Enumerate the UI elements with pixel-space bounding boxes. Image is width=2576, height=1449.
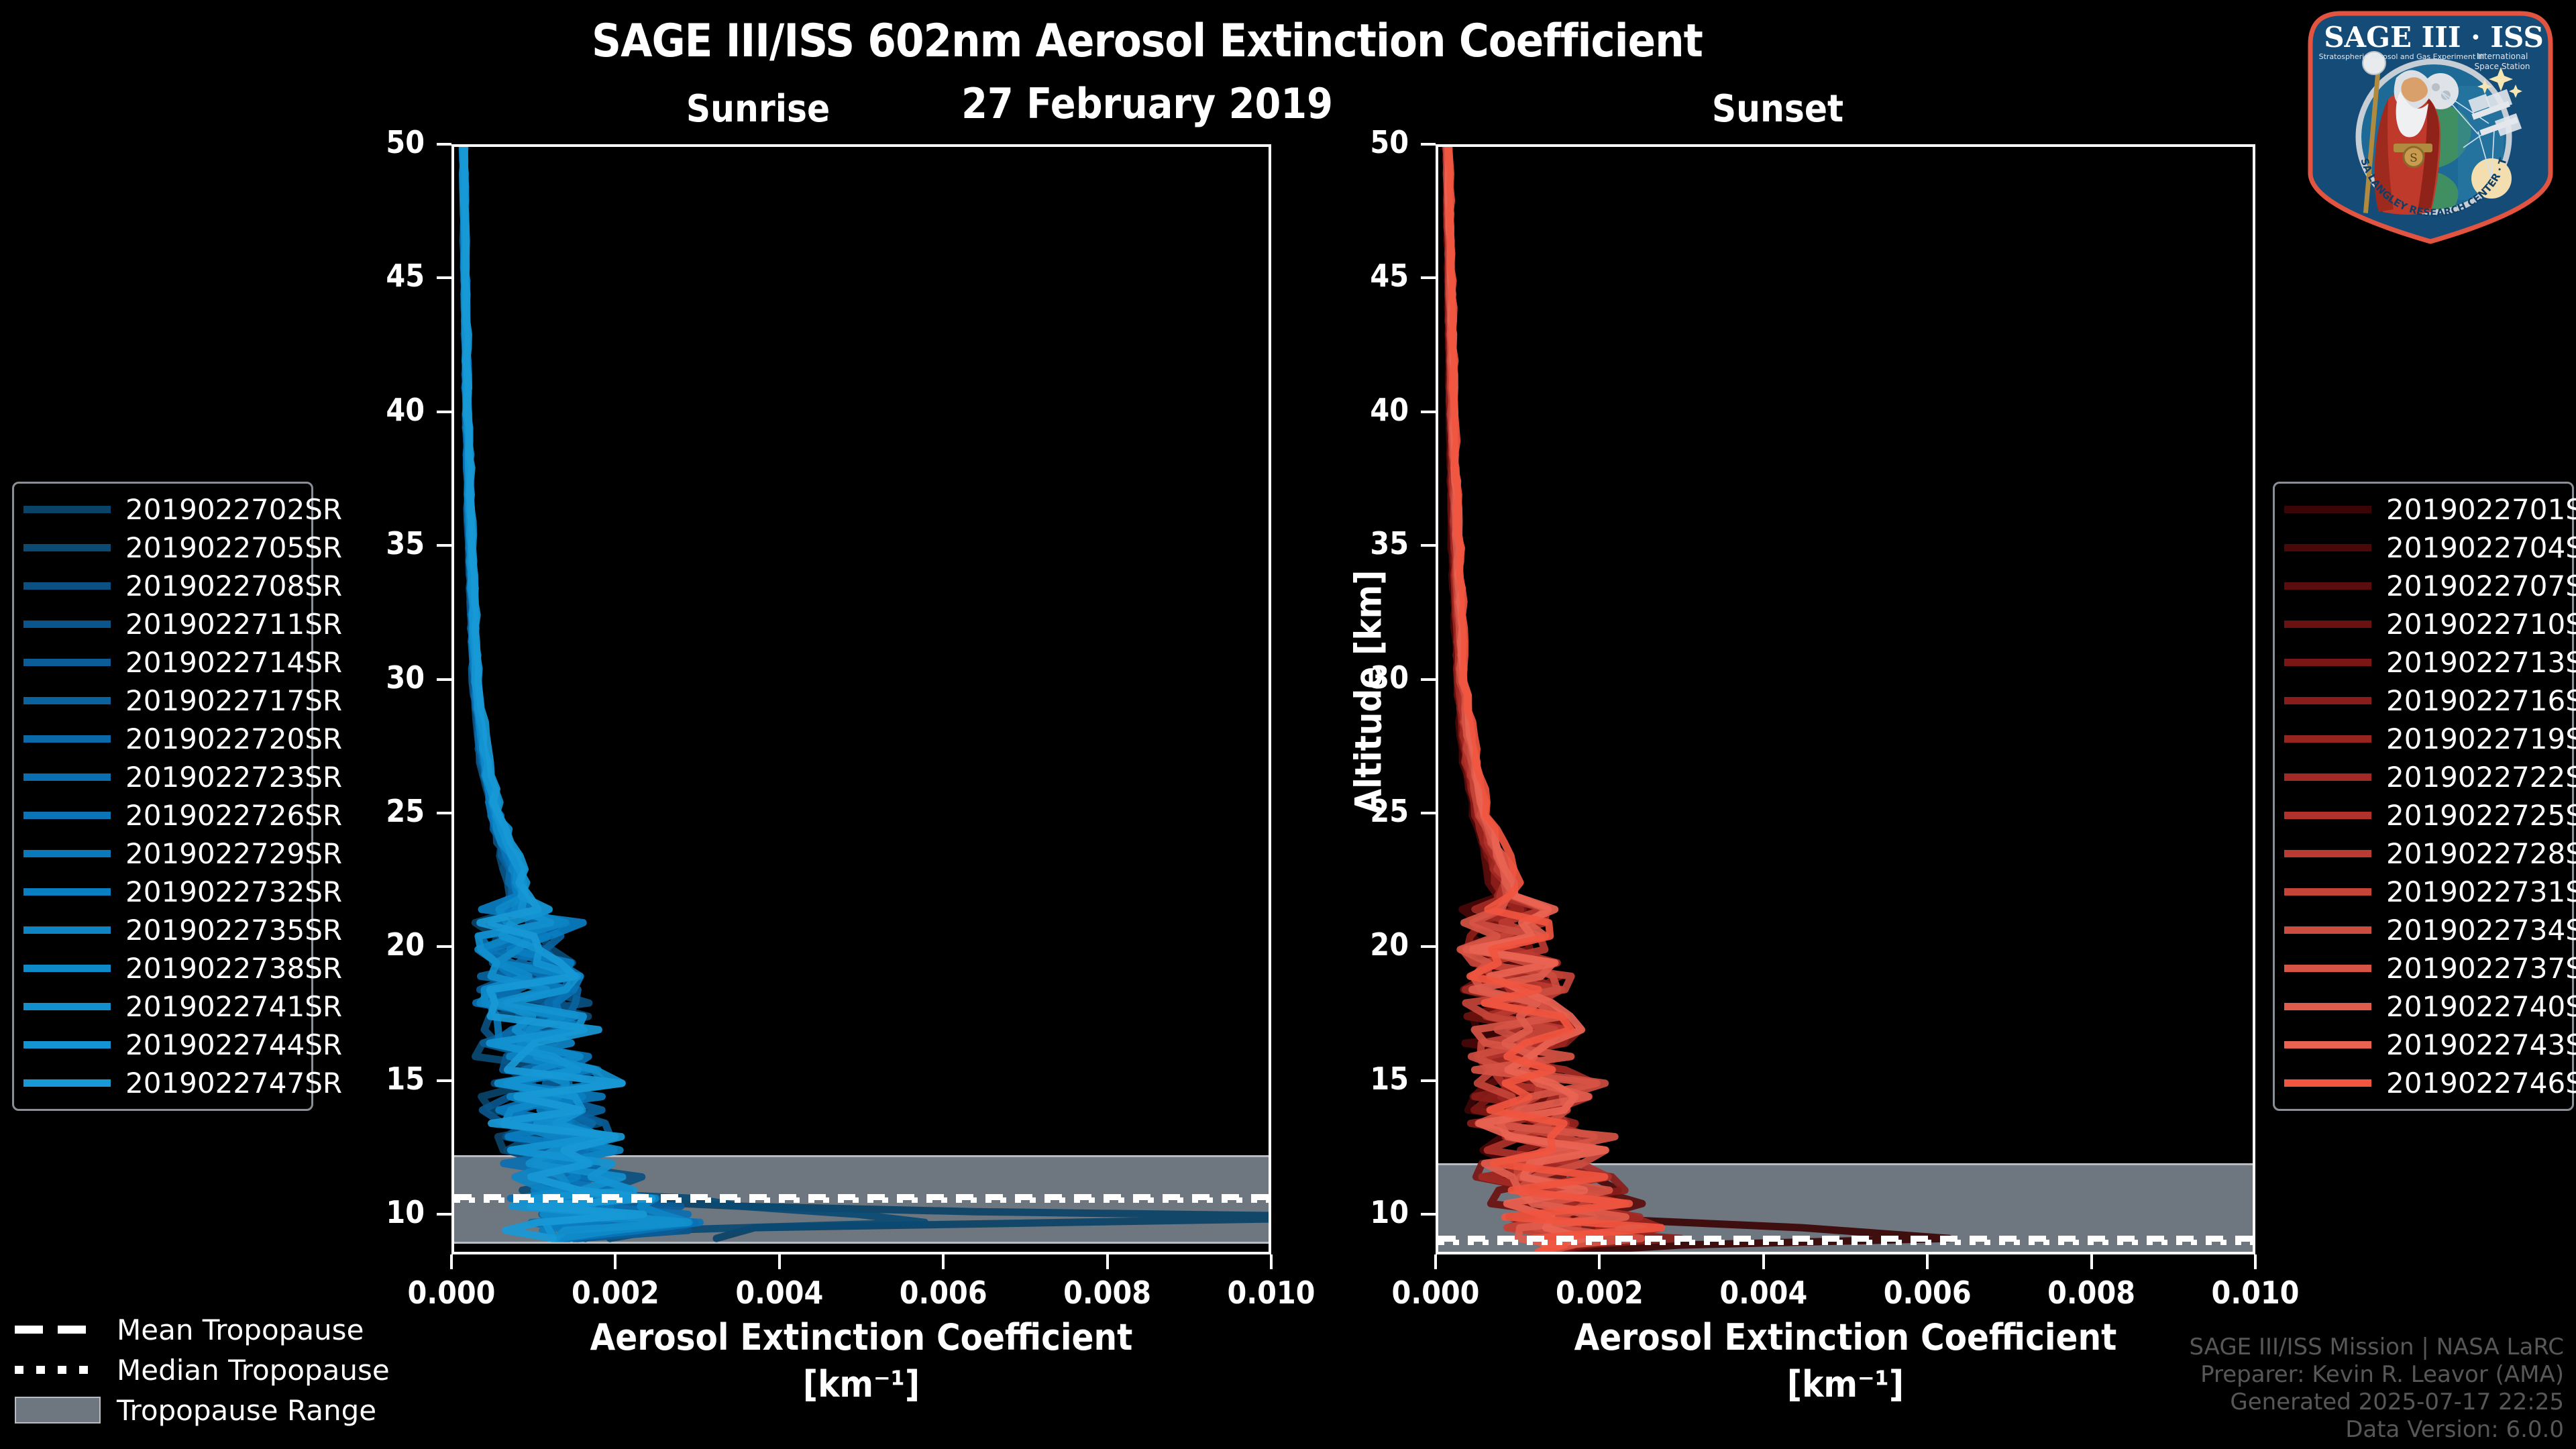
y-tick	[437, 143, 451, 146]
x-tick	[1106, 1254, 1109, 1269]
legend-item[interactable]: 2019022741SR	[23, 987, 302, 1026]
dotted-line-icon	[15, 1366, 101, 1374]
legend-color-swatch	[23, 1079, 111, 1087]
legend-item[interactable]: 2019022720SR	[23, 720, 302, 758]
legend-color-swatch	[2284, 1003, 2371, 1010]
legend-item[interactable]: 2019022732SR	[23, 873, 302, 911]
legend-item[interactable]: 2019022738SR	[23, 949, 302, 987]
legend-color-swatch	[2284, 812, 2371, 819]
x-tick	[2090, 1254, 2093, 1269]
legend-item[interactable]: 2019022701SS	[2284, 490, 2563, 529]
legend-color-swatch	[23, 506, 111, 513]
dashed-line-icon	[15, 1326, 101, 1334]
legend-color-swatch	[2284, 1079, 2371, 1087]
y-tick	[1421, 678, 1436, 681]
x-tick	[778, 1254, 781, 1269]
legend-color-swatch	[2284, 850, 2371, 857]
median-tropopause-line	[1438, 1240, 2253, 1245]
filled-box-icon	[15, 1397, 101, 1424]
credits-block: SAGE III/ISS Mission | NASA LaRC Prepare…	[2189, 1334, 2564, 1444]
legend-color-swatch	[2284, 506, 2371, 513]
legend-color-swatch	[23, 621, 111, 628]
legend-color-swatch	[23, 812, 111, 819]
legend-label: 2019022717SR	[125, 684, 342, 717]
legend-label: 2019022719SS	[2386, 722, 2576, 755]
y-tick	[1421, 1213, 1436, 1216]
y-tick	[437, 812, 451, 814]
legend-label: 2019022743SS	[2386, 1028, 2576, 1061]
y-tick	[1421, 544, 1436, 547]
legend-label: 2019022744SR	[125, 1028, 342, 1061]
x-tick	[1434, 1254, 1437, 1269]
legend-item[interactable]: 2019022705SR	[23, 529, 302, 567]
y-tick	[437, 544, 451, 547]
legend-item[interactable]: 2019022725SS	[2284, 796, 2563, 835]
legend-color-swatch	[23, 1041, 111, 1049]
y-tick	[437, 678, 451, 681]
legend-item[interactable]: 2019022744SR	[23, 1026, 302, 1064]
legend-item[interactable]: 2019022719SS	[2284, 720, 2563, 758]
legend-color-swatch	[2284, 544, 2371, 551]
x-tick	[450, 1254, 453, 1269]
legend-color-swatch	[23, 926, 111, 934]
legend-label: 2019022723SR	[125, 761, 342, 794]
x-tick-label: 0.002	[1525, 1275, 1673, 1311]
y-tick	[1421, 411, 1436, 413]
date-title: 27 February 2019	[0, 79, 2294, 128]
logo-title: SAGE III · ISS	[2324, 21, 2544, 54]
legend-label: 2019022710SS	[2386, 608, 2576, 641]
y-tick	[1421, 1079, 1436, 1082]
profile-curves	[454, 147, 1271, 1254]
logo-subtitle-right-1: International	[2477, 52, 2528, 61]
legend-label: 2019022716SS	[2386, 684, 2576, 717]
legend-item-median-tropopause: Median Tropopause	[15, 1350, 390, 1390]
legend-item[interactable]: 2019022737SS	[2284, 949, 2563, 987]
x-tick-label: 0.004	[706, 1275, 853, 1311]
legend-item[interactable]: 2019022723SR	[23, 758, 302, 796]
legend-color-swatch	[2284, 659, 2371, 666]
legend-item[interactable]: 2019022704SS	[2284, 529, 2563, 567]
sunrise-legend[interactable]: 2019022702SR2019022705SR2019022708SR2019…	[12, 482, 313, 1111]
y-tick-label: 40	[317, 392, 425, 428]
x-tick	[614, 1254, 616, 1269]
legend-color-swatch	[2284, 888, 2371, 896]
y-tick-label: 40	[1301, 392, 1409, 428]
legend-item[interactable]: 2019022740SS	[2284, 987, 2563, 1026]
sunrise-panel-title: Sunrise	[590, 87, 926, 131]
legend-item[interactable]: 2019022702SR	[23, 490, 302, 529]
x-tick	[1270, 1254, 1273, 1269]
legend-item-tropopause-range: Tropopause Range	[15, 1390, 390, 1430]
legend-color-swatch	[23, 544, 111, 551]
tropopause-legend: Mean Tropopause Median Tropopause Tropop…	[15, 1309, 390, 1430]
sunset-y-axis-title: Altitude [km]	[1348, 491, 1390, 894]
y-tick	[437, 1079, 451, 1082]
legend-item[interactable]: 2019022707SS	[2284, 567, 2563, 605]
profile-line	[464, 147, 652, 1238]
sage-iii-iss-logo: S SAGE III · ISS Stratospheric Aerosol a…	[2302, 5, 2559, 247]
legend-label: 2019022741SR	[125, 990, 342, 1023]
y-tick	[437, 1213, 451, 1216]
x-tick	[942, 1254, 945, 1269]
legend-item[interactable]: 2019022731SS	[2284, 873, 2563, 911]
legend-label: 2019022738SR	[125, 952, 342, 985]
legend-label: 2019022722SS	[2386, 761, 2576, 794]
credits-line-data-version: Data Version: 6.0.0	[2189, 1416, 2564, 1444]
legend-label: 2019022732SR	[125, 875, 342, 908]
sunset-panel-title: Sunset	[1610, 87, 1945, 131]
legend-label: 2019022714SR	[125, 646, 342, 679]
legend-label: 2019022731SS	[2386, 875, 2576, 908]
legend-label-tropopause-range: Tropopause Range	[117, 1394, 376, 1427]
sunrise-x-axis-units: [km⁻¹]	[451, 1363, 1271, 1405]
legend-label: 2019022720SR	[125, 722, 342, 755]
legend-label: 2019022734SS	[2386, 914, 2576, 947]
y-tick-label: 15	[1301, 1061, 1409, 1097]
legend-color-swatch	[2284, 582, 2371, 590]
y-tick	[1421, 143, 1436, 146]
credits-line-preparer: Preparer: Kevin R. Leavor (AMA)	[2189, 1361, 2564, 1389]
sunset-x-axis-units: [km⁻¹]	[1436, 1363, 2255, 1405]
sunrise-x-axis-title: Aerosol Extinction Coefficient	[451, 1316, 1271, 1358]
y-tick-label: 45	[1301, 258, 1409, 294]
profile-curves	[1438, 147, 2255, 1254]
legend-label: 2019022702SR	[125, 493, 342, 526]
y-tick	[1421, 276, 1436, 279]
legend-label-mean-tropopause: Mean Tropopause	[117, 1313, 364, 1346]
legend-label: 2019022708SR	[125, 570, 342, 602]
legend-item[interactable]: 2019022711SR	[23, 605, 302, 643]
legend-item[interactable]: 2019022734SS	[2284, 911, 2563, 949]
y-tick	[1421, 812, 1436, 814]
legend-item[interactable]: 2019022728SS	[2284, 835, 2563, 873]
x-tick-label: 0.008	[1034, 1275, 1181, 1311]
x-tick-label: 0.000	[378, 1275, 525, 1311]
legend-color-swatch	[23, 697, 111, 704]
legend-item[interactable]: 2019022729SR	[23, 835, 302, 873]
legend-label: 2019022728SS	[2386, 837, 2576, 870]
legend-color-swatch	[23, 773, 111, 781]
credits-line-mission: SAGE III/ISS Mission | NASA LaRC	[2189, 1334, 2564, 1361]
legend-label: 2019022737SS	[2386, 952, 2576, 985]
credits-line-generated: Generated 2025-07-17 22:25	[2189, 1389, 2564, 1416]
svg-text:S: S	[2410, 152, 2418, 165]
y-tick-label: 50	[317, 124, 425, 160]
legend-color-swatch	[23, 1003, 111, 1010]
legend-item-mean-tropopause: Mean Tropopause	[15, 1309, 390, 1350]
legend-item[interactable]: 2019022722SS	[2284, 758, 2563, 796]
legend-label: 2019022725SS	[2386, 799, 2576, 832]
legend-item[interactable]: 2019022713SS	[2284, 643, 2563, 682]
x-tick-label: 0.006	[869, 1275, 1017, 1311]
x-tick-label: 0.006	[1854, 1275, 2001, 1311]
legend-item[interactable]: 2019022714SR	[23, 643, 302, 682]
y-tick	[437, 276, 451, 279]
x-tick-label: 0.004	[1690, 1275, 1837, 1311]
legend-color-swatch	[23, 850, 111, 857]
x-tick	[1762, 1254, 1765, 1269]
x-tick	[1598, 1254, 1601, 1269]
legend-item[interactable]: 2019022735SR	[23, 911, 302, 949]
legend-label: 2019022726SR	[125, 799, 342, 832]
legend-label: 2019022747SR	[125, 1067, 342, 1099]
y-tick-label: 50	[1301, 124, 1409, 160]
legend-item[interactable]: 2019022746SS	[2284, 1064, 2563, 1102]
sunset-plot-area	[1436, 144, 2255, 1254]
legend-item[interactable]: 2019022716SS	[2284, 682, 2563, 720]
y-tick	[437, 945, 451, 948]
legend-label: 2019022740SS	[2386, 990, 2576, 1023]
legend-item[interactable]: 2019022747SR	[23, 1064, 302, 1102]
legend-label: 2019022729SR	[125, 837, 342, 870]
legend-item[interactable]: 2019022743SS	[2284, 1026, 2563, 1064]
legend-color-swatch	[23, 965, 111, 972]
x-tick-label: 0.002	[541, 1275, 689, 1311]
sunrise-plot-area	[451, 144, 1271, 1254]
y-tick-label: 20	[1301, 926, 1409, 963]
legend-label-median-tropopause: Median Tropopause	[117, 1354, 390, 1387]
legend-label: 2019022707SS	[2386, 570, 2576, 602]
legend-color-swatch	[23, 582, 111, 590]
page-title: SAGE III/ISS 602nm Aerosol Extinction Co…	[0, 15, 2294, 68]
legend-color-swatch	[2284, 926, 2371, 934]
y-tick-label: 10	[317, 1194, 425, 1230]
x-tick	[2254, 1254, 2257, 1269]
legend-item[interactable]: 2019022710SS	[2284, 605, 2563, 643]
legend-label: 2019022705SR	[125, 531, 342, 564]
x-tick	[1926, 1254, 1929, 1269]
y-tick	[437, 411, 451, 413]
sunset-x-axis-title: Aerosol Extinction Coefficient	[1436, 1316, 2255, 1358]
legend-color-swatch	[23, 659, 111, 666]
legend-color-swatch	[2284, 735, 2371, 743]
median-tropopause-line	[454, 1197, 1269, 1203]
figure-canvas: SAGE III/ISS 602nm Aerosol Extinction Co…	[0, 0, 2576, 1449]
logo-subtitle-right-2: Space Station	[2474, 62, 2530, 71]
legend-color-swatch	[23, 735, 111, 743]
legend-label: 2019022713SS	[2386, 646, 2576, 679]
logo-subtitle-left: Stratospheric Aerosol and Gas Experiment…	[2319, 52, 2485, 61]
x-tick-label: 0.010	[2182, 1275, 2329, 1311]
y-tick	[1421, 945, 1436, 948]
x-tick-label: 0.008	[2018, 1275, 2165, 1311]
x-tick-label: 0.010	[1197, 1275, 1345, 1311]
x-tick-label: 0.000	[1362, 1275, 1509, 1311]
legend-color-swatch	[2284, 965, 2371, 972]
y-tick-label: 10	[1301, 1194, 1409, 1230]
legend-color-swatch	[23, 888, 111, 896]
legend-color-swatch	[2284, 621, 2371, 628]
legend-color-swatch	[2284, 697, 2371, 704]
sunset-legend[interactable]: 2019022701SS2019022704SS2019022707SS2019…	[2273, 482, 2574, 1111]
legend-label: 2019022746SS	[2386, 1067, 2576, 1099]
legend-label: 2019022711SR	[125, 608, 342, 641]
legend-item[interactable]: 2019022717SR	[23, 682, 302, 720]
legend-item[interactable]: 2019022726SR	[23, 796, 302, 835]
y-tick-label: 45	[317, 258, 425, 294]
legend-label: 2019022704SS	[2386, 531, 2576, 564]
legend-label: 2019022735SR	[125, 914, 342, 947]
legend-label: 2019022701SS	[2386, 493, 2576, 526]
legend-item[interactable]: 2019022708SR	[23, 567, 302, 605]
legend-color-swatch	[2284, 1041, 2371, 1049]
legend-color-swatch	[2284, 773, 2371, 781]
